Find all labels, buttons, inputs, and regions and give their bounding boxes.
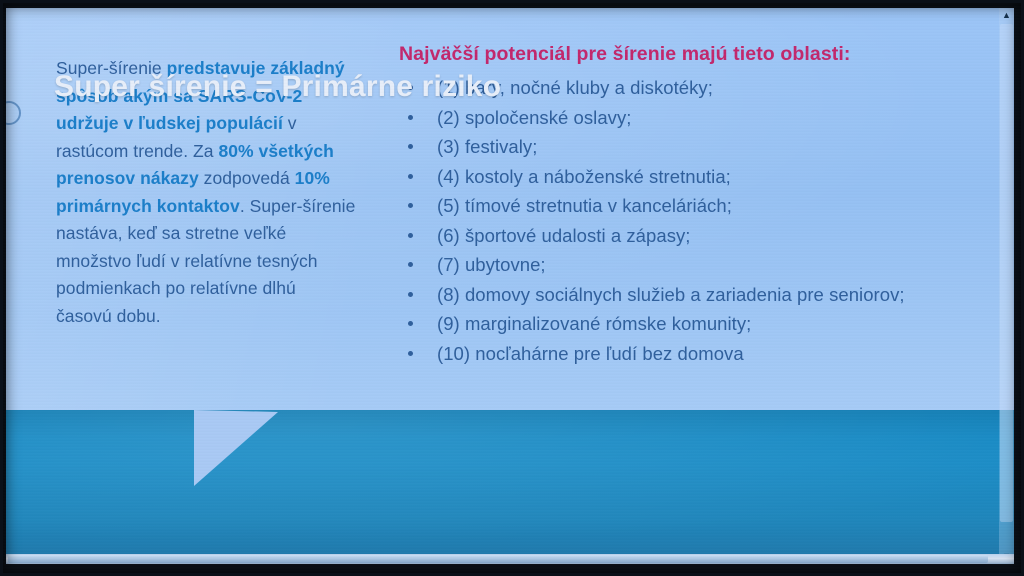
scroll-up-arrow-icon[interactable]: ▲: [999, 8, 1014, 23]
list-item-label: (3) festivaly;: [437, 136, 537, 157]
list-item-label: (2) spoločenské oslavy;: [437, 107, 631, 128]
list-item: (10) nocľahárne pre ľudí bez domova: [399, 339, 979, 369]
list-item-label: (6) športové udalosti a zápasy;: [437, 225, 691, 246]
list-item: (6) športové udalosti a zápasy;: [399, 221, 979, 251]
list-item: (8) domovy sociálnych služieb a zariaden…: [399, 280, 979, 310]
list-item: (5) tímové stretnutia v kanceláriách;: [399, 191, 979, 221]
list-item-label: (9) marginalizované rómske komunity;: [437, 313, 751, 334]
list-item-label: (10) nocľahárne pre ľudí bez domova: [437, 343, 744, 364]
list-item: (7) ubytovne;: [399, 250, 979, 280]
bullet-dot-icon: [408, 262, 413, 267]
risk-areas-list: (1) bary, nočné kluby a diskotéky;(2) sp…: [399, 73, 979, 368]
list-item-label: (7) ubytovne;: [437, 254, 546, 275]
bullet-dot-icon: [408, 233, 413, 238]
vertical-scrollbar[interactable]: ▲ ▼: [999, 8, 1014, 564]
horizontal-scrollbar[interactable]: [6, 554, 1014, 564]
list-item: (3) festivaly;: [399, 132, 979, 162]
slide-viewport: Super šírenie = Primárne riziko Super-ší…: [6, 8, 1014, 564]
bullet-dot-icon: [408, 144, 413, 149]
horizontal-scrollbar-thumb[interactable]: [8, 555, 988, 563]
bullet-dot-icon: [408, 351, 413, 356]
list-item: (4) kostoly a náboženské stretnutia;: [399, 162, 979, 192]
bullet-dot-icon: [408, 321, 413, 326]
projected-screen-frame: Super šírenie = Primárne riziko Super-ší…: [0, 0, 1024, 576]
right-column-heading: Najväčší potenciál pre šírenie majú tiet…: [399, 41, 979, 67]
title-band: [6, 410, 1014, 564]
bullet-dot-icon: [408, 203, 413, 208]
paragraph-run: zodpovedá: [199, 168, 295, 188]
bullet-dot-icon: [408, 174, 413, 179]
bullet-dot-icon: [408, 292, 413, 297]
list-item-label: (5) tímové stretnutia v kanceláriách;: [437, 195, 732, 216]
list-item-label: (8) domovy sociálnych služieb a zariaden…: [437, 284, 905, 305]
list-item: (2) spoločenské oslavy;: [399, 103, 979, 133]
speech-bubble-tail-icon: [188, 410, 280, 488]
slide-band-title: Super šírenie = Primárne riziko: [54, 70, 501, 104]
list-item: (9) marginalizované rómske komunity;: [399, 309, 979, 339]
vertical-scrollbar-thumb[interactable]: [1000, 24, 1013, 522]
list-item-label: (4) kostoly a náboženské stretnutia;: [437, 166, 731, 187]
bullet-dot-icon: [408, 115, 413, 120]
